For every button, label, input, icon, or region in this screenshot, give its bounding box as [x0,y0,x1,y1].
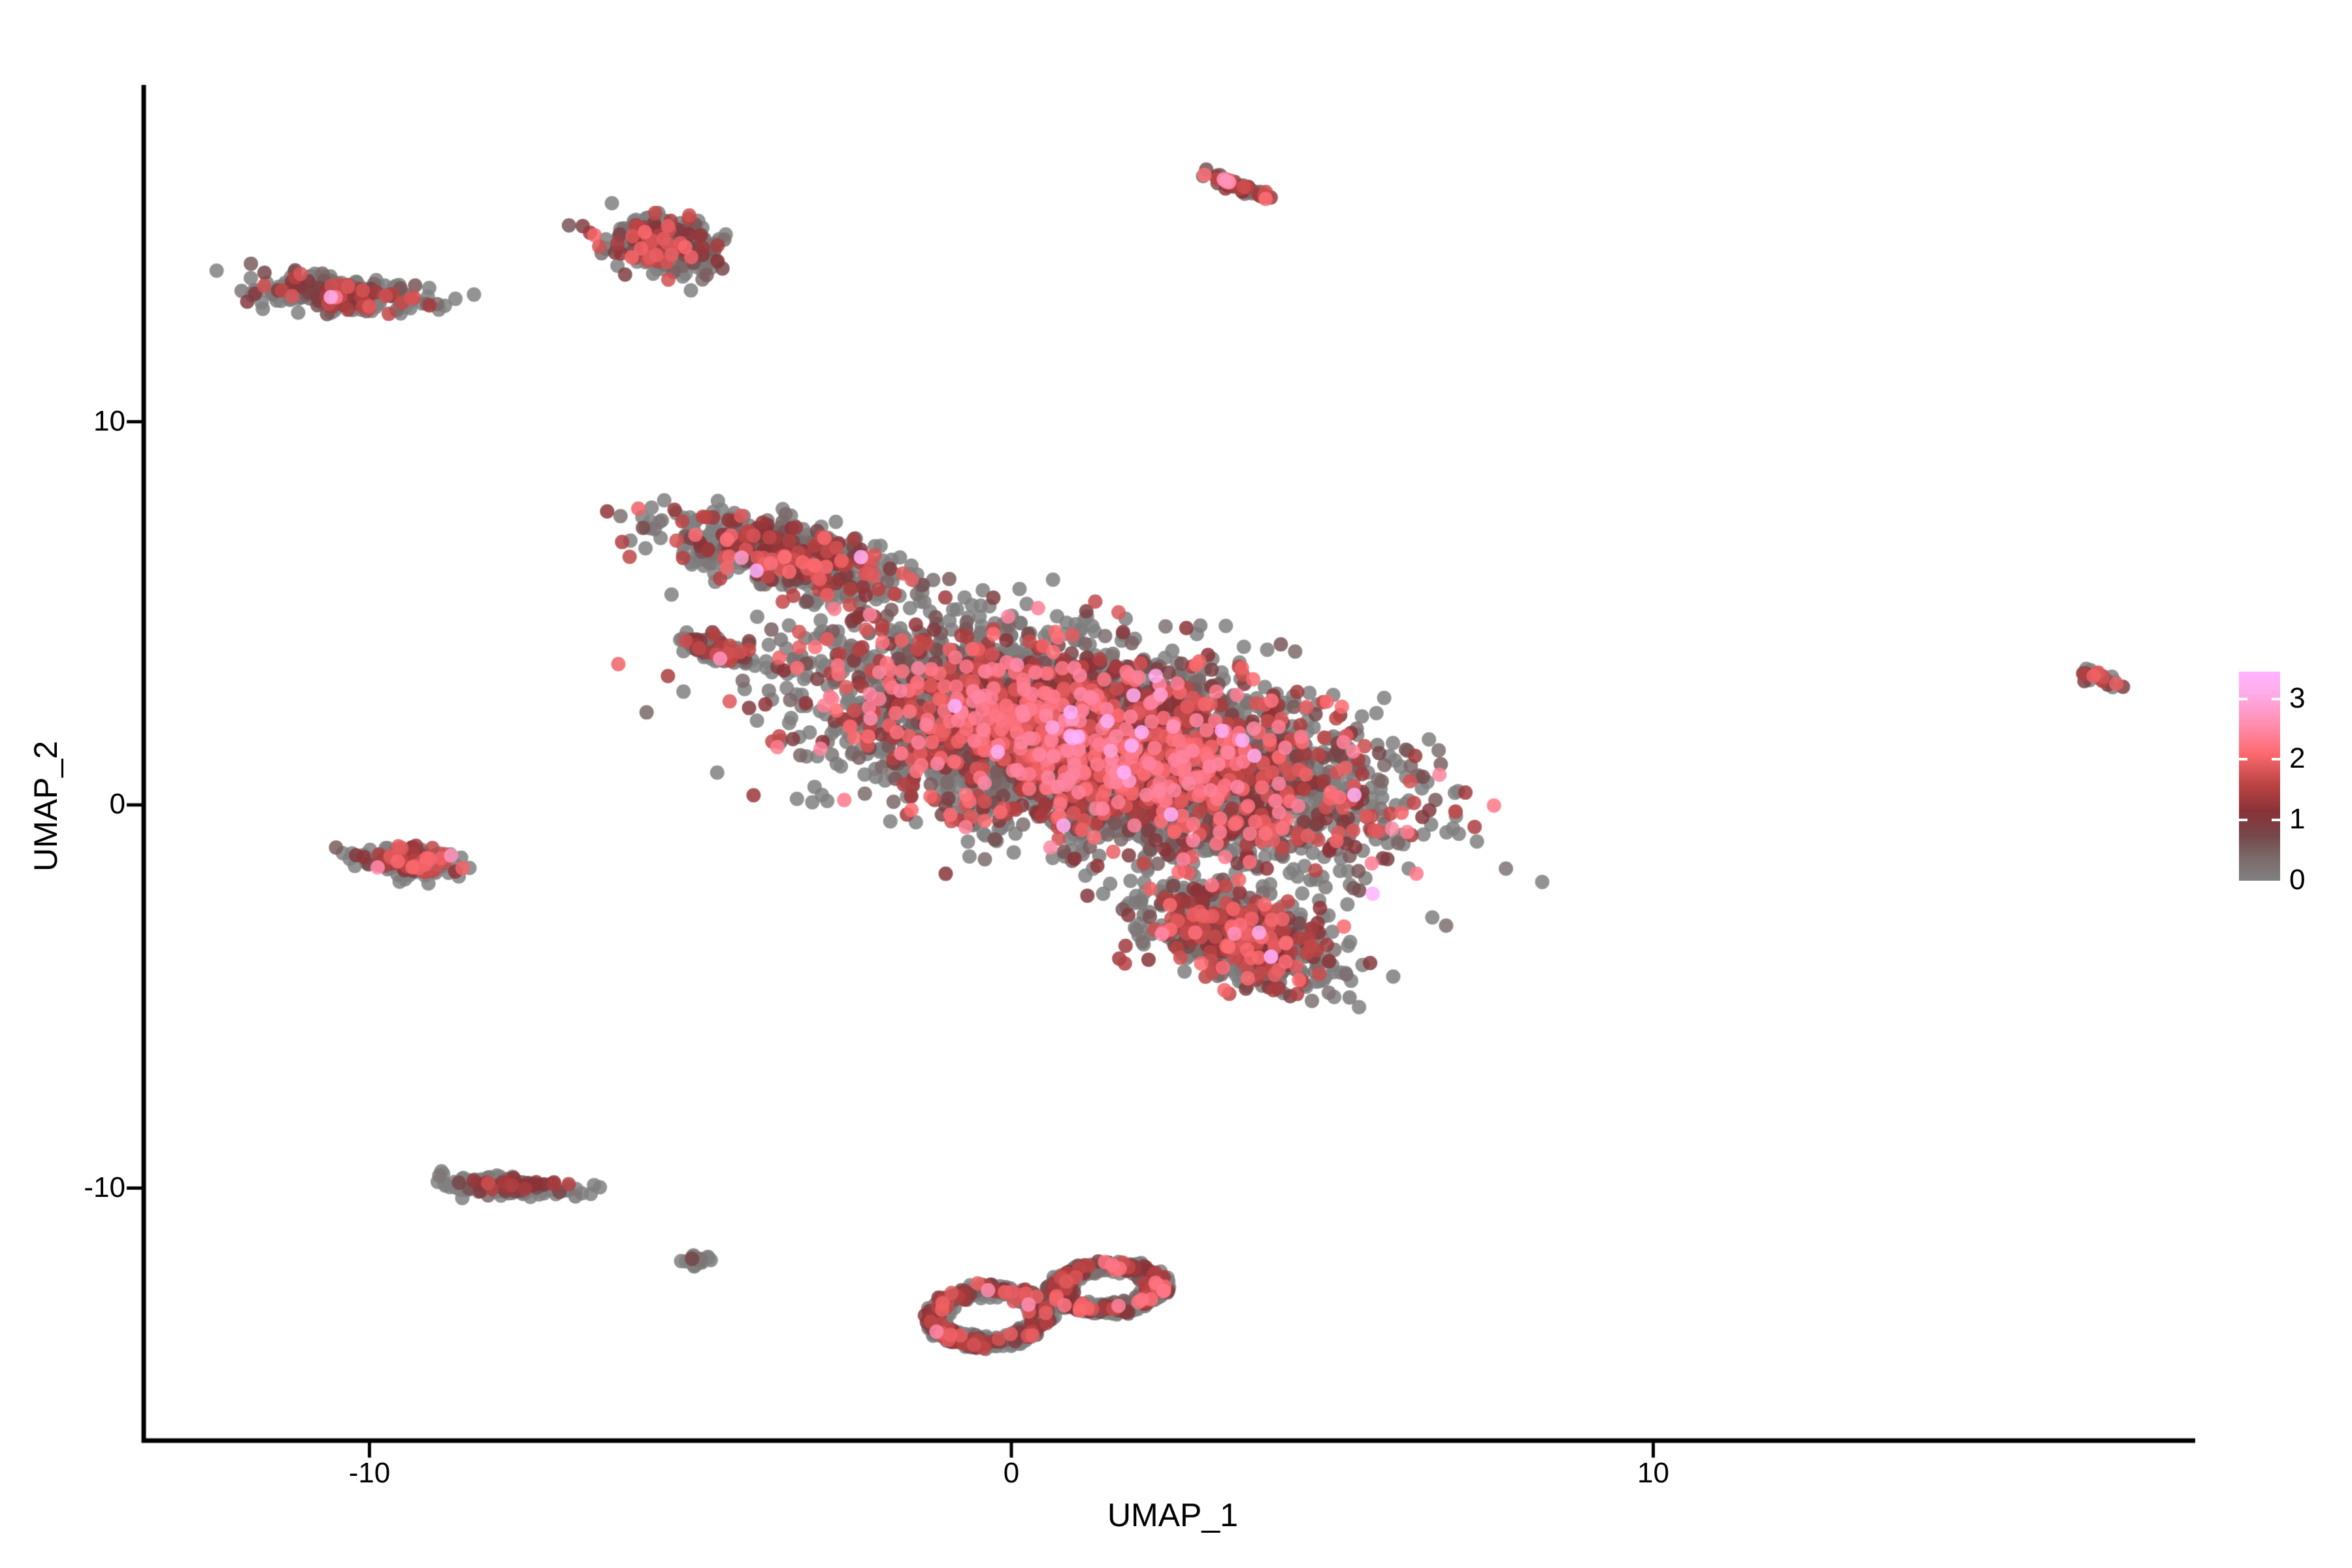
colorbar-tick-label: 2 [2289,744,2305,773]
colorbar-tick-mark [2239,819,2247,821]
colorbar-gradient [2239,672,2280,881]
x-axis-label: UMAP_1 [977,1496,1369,1534]
colorbar-tick-mark [2239,698,2247,700]
colorbar-tick-mark [2272,698,2280,700]
y-tick-label: -10 [0,1171,125,1204]
colorbar-tick-label: 3 [2289,684,2305,713]
x-tick-label: 0 [946,1457,1077,1490]
scatter-plot-canvas [0,0,2352,1568]
colorbar-tick-mark [2272,758,2280,760]
y-tick-label: 10 [0,405,125,438]
colorbar-tick-label: 1 [2289,805,2305,834]
colorbar-tick-label: 0 [2289,866,2305,894]
x-tick-label: 10 [1588,1457,1719,1490]
expression-colorbar-legend: 0123 [2234,666,2345,889]
umap-feature-plot: Cldn11 UMAP_1 UMAP_2 -10010 100-10 0123 [0,0,2352,1568]
colorbar-tick-mark [2272,819,2280,821]
y-tick-label: 0 [0,788,125,821]
x-tick-label: -10 [304,1457,435,1490]
colorbar-tick-mark [2239,758,2247,760]
